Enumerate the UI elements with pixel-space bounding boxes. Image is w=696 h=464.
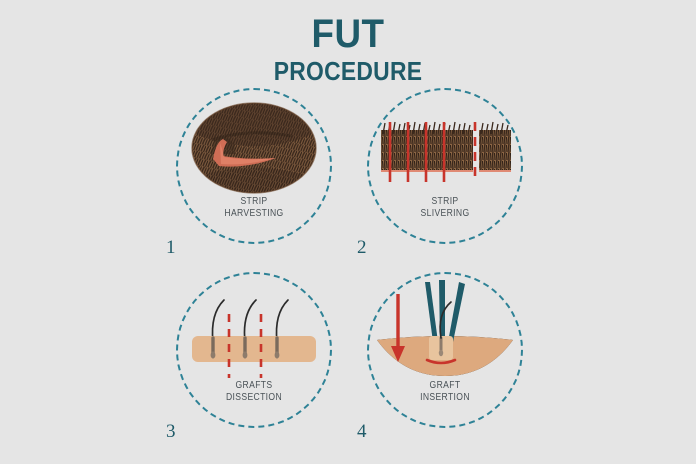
title-main: FUT	[28, 14, 668, 54]
graft-insertion-forceps-icon	[367, 280, 523, 384]
step-label-line2: INSERTION	[369, 392, 520, 404]
step-label-line2: SLIVERING	[369, 208, 520, 220]
step-number: 3	[166, 422, 176, 441]
scalp-oval-strip-harvest-icon	[176, 96, 332, 200]
step-label-line1: GRAFT	[369, 380, 520, 392]
step-label-line1: GRAFTS	[178, 380, 329, 392]
step-label: STRIP SLIVERING	[369, 196, 520, 220]
step-number: 4	[357, 422, 367, 441]
fut-procedure-infographic: FUT PROCEDURE	[0, 0, 696, 464]
page-title: FUT PROCEDURE	[0, 14, 696, 84]
grafts-dissection-icon	[176, 280, 332, 384]
step-4-graft-insertion: GRAFT INSERTION 4	[367, 272, 523, 428]
step-label-line1: STRIP	[178, 196, 329, 208]
step-label-line2: HARVESTING	[178, 208, 329, 220]
step-number: 2	[357, 238, 367, 257]
title-subtitle: PROCEDURE	[42, 58, 654, 84]
step-label-line1: STRIP	[369, 196, 520, 208]
step-3-grafts-dissection: GRAFTS DISSECTION 3	[176, 272, 332, 428]
step-2-strip-slivering: STRIP SLIVERING 2	[367, 88, 523, 244]
step-label: GRAFTS DISSECTION	[178, 380, 329, 404]
hair-strip-slivering-icon	[367, 96, 523, 200]
step-1-strip-harvesting: STRIP HARVESTING 1	[176, 88, 332, 244]
step-label-line2: DISSECTION	[178, 392, 329, 404]
step-number: 1	[166, 238, 176, 257]
step-label: STRIP HARVESTING	[178, 196, 329, 220]
step-label: GRAFT INSERTION	[369, 380, 520, 404]
